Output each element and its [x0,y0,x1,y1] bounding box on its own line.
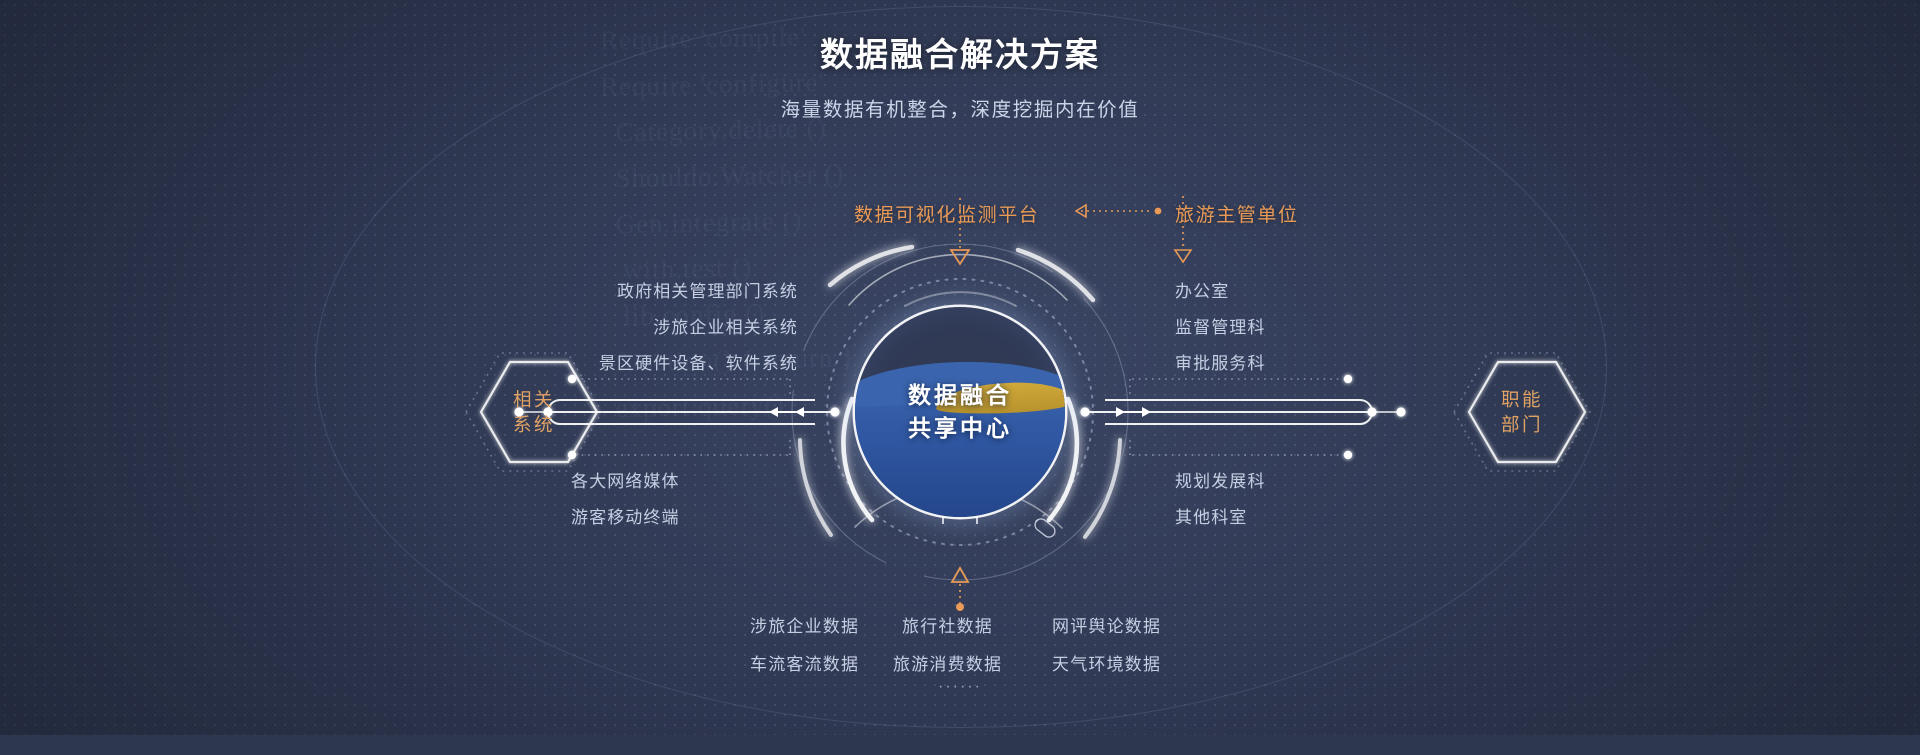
right-label-1: 监督管理科 [1175,313,1266,338]
bottom-label-r2c0: 车流客流数据 [750,650,859,675]
right-label-0: 办公室 [1175,277,1229,302]
left-label-3: 各大网络媒体 [571,467,680,492]
bottom-label-r1c1: 旅行社数据 [902,612,993,637]
bottom-ellipsis: ······ [938,678,982,696]
bottom-label-r2c1: 旅游消费数据 [893,650,1002,675]
left-hexagon-line2: 系统 [464,412,604,437]
right-hexagon-label: 职能 部门 [1452,387,1592,437]
bottom-accent-connector [952,568,968,611]
accent-label-visualization-platform[interactable]: 数据可视化监测平台 [854,200,1039,227]
bottom-label-r2c2: 天气环境数据 [1052,650,1161,675]
center-core-label: 数据融合 共享中心 [855,379,1065,445]
left-hexagon-label: 相关 系统 [464,387,604,437]
right-hexagon-line2: 部门 [1452,412,1592,437]
center-core-line1: 数据融合 [855,379,1065,412]
accent-label-tourism-authority[interactable]: 旅游主管单位 [1175,200,1299,227]
connector-dot [1155,208,1162,215]
flow-arrow-right-icon [1142,407,1151,417]
flow-arrow-left-icon [795,407,804,417]
right-label-2: 审批服务科 [1175,349,1266,374]
left-hexagon-line1: 相关 [464,387,604,412]
connector-dot [956,603,964,611]
left-label-0: 政府相关管理部门系统 [617,277,798,302]
right-hexagon-line1: 职能 [1452,387,1592,412]
left-label-4: 游客移动终端 [571,503,680,528]
right-connector-group [1080,375,1405,459]
arrow-down-icon [951,250,969,264]
right-label-4: 其他科室 [1175,503,1247,528]
center-core-line2: 共享中心 [855,412,1065,445]
right-label-3: 规划发展科 [1175,467,1266,492]
right-hexagon-node[interactable]: 职能 部门 [1452,338,1592,486]
center-core-circle[interactable]: 数据融合 共享中心 [855,307,1065,517]
bottom-label-r1c0: 涉旅企业数据 [750,612,859,637]
page-title: 数据融合解决方案 [0,28,1920,76]
bottom-label-r1c2: 网评舆论数据 [1052,612,1161,637]
flow-arrow-right-icon [1116,407,1125,417]
arrow-down-icon [1175,250,1191,262]
left-label-1: 涉旅企业相关系统 [653,313,798,338]
left-hexagon-node[interactable]: 相关 系统 [464,338,604,486]
header: 数据融合解决方案 海量数据有机整合，深度挖掘内在价值 [0,28,1920,122]
left-label-2: 景区硬件设备、软件系统 [599,349,798,374]
flow-arrow-left-icon [769,407,778,417]
page-subtitle: 海量数据有机整合，深度挖掘内在价值 [0,93,1920,122]
